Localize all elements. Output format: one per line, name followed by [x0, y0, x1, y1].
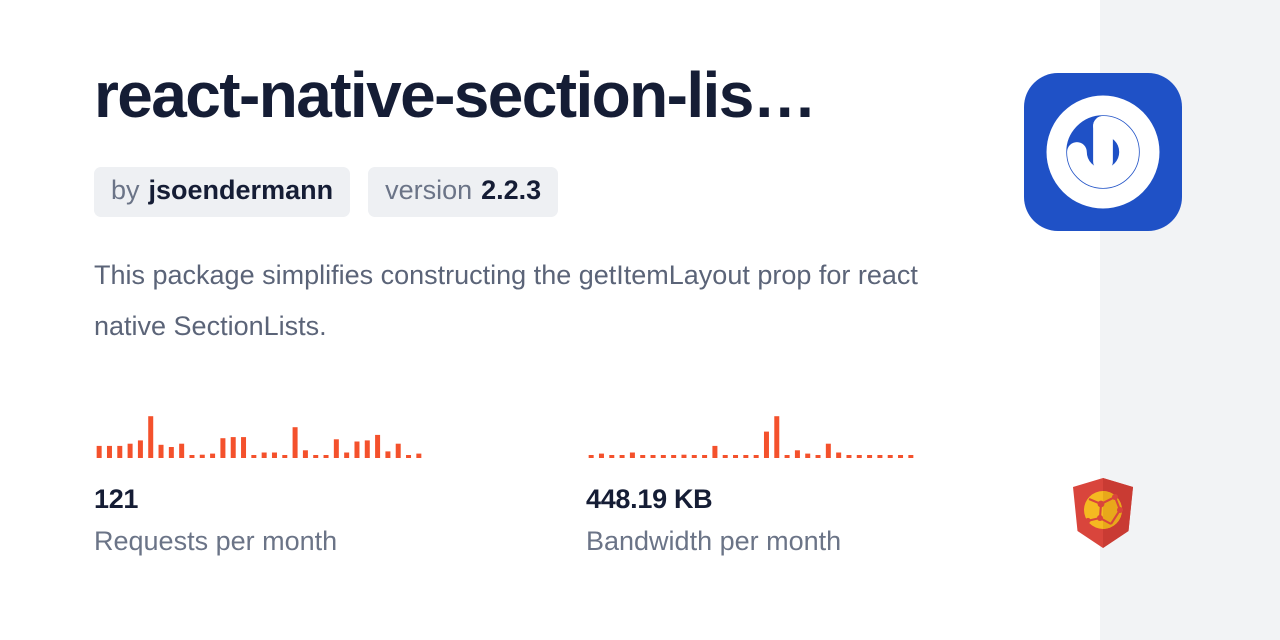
requests-value: 121	[94, 485, 424, 515]
sparkline-bar	[416, 454, 421, 458]
sparkline-bar	[640, 455, 645, 458]
sparkline-bar	[375, 435, 380, 458]
sparkline-bar	[733, 455, 738, 458]
sparkline-bar	[774, 416, 779, 458]
sparkline-bar	[324, 455, 329, 458]
sparkline-bar	[630, 453, 635, 459]
shield-globe-icon	[1070, 477, 1136, 549]
sparkline-bar	[702, 455, 707, 458]
sparkline-bar	[609, 455, 614, 458]
sparkline-bar	[743, 455, 748, 458]
sparkline-bar	[805, 454, 810, 458]
sparkline-bar	[293, 427, 298, 458]
version-number: 2.2.3	[481, 176, 541, 206]
package-description: This package simplifies constructing the…	[94, 250, 924, 352]
sparkline-bar	[661, 455, 666, 458]
requests-label: Requests per month	[94, 527, 424, 557]
sparkline-bar	[138, 440, 143, 458]
meta-badges: by jsoendermann version 2.2.3	[94, 167, 558, 217]
sparkline-bar	[620, 455, 625, 458]
version-prefix-label: version	[385, 176, 472, 206]
sparkline-bar	[599, 454, 604, 458]
bandwidth-sparkline-chart	[586, 410, 916, 458]
sparkline-bar	[867, 455, 872, 458]
sparkline-bar	[179, 444, 184, 458]
requests-sparkline-chart	[94, 410, 424, 458]
sparkline-bar	[220, 438, 225, 458]
sparkline-bar	[200, 455, 205, 458]
sparkline-bar	[846, 455, 851, 458]
sparkline-bar	[128, 444, 133, 458]
sparkline-bar	[354, 442, 359, 459]
sparkline-bar	[785, 455, 790, 458]
sparkline-bar	[406, 455, 411, 458]
sparkline-bar	[651, 455, 656, 458]
sparkline-bar	[826, 444, 831, 458]
sparkline-bar	[189, 455, 194, 458]
sparkline-bar	[169, 447, 174, 458]
sparkline-bar	[262, 453, 267, 459]
sparkline-bar	[908, 455, 913, 458]
sparkline-bar	[241, 437, 246, 458]
sparkline-bar	[148, 416, 153, 458]
sparkline-bar	[385, 451, 390, 458]
author-prefix-label: by	[111, 176, 140, 206]
bandwidth-value: 448.19 KB	[586, 485, 916, 515]
sparkline-bar	[681, 455, 686, 458]
sparkline-bar	[396, 444, 401, 458]
sparkline-bar	[589, 455, 594, 458]
sparkline-bar	[795, 450, 800, 458]
sparkline-bar	[107, 446, 112, 458]
sparkline-bar	[877, 455, 882, 458]
sparkline-bar	[712, 446, 717, 458]
sparkline-bar	[836, 453, 841, 459]
sparkline-bar	[303, 450, 308, 458]
sparkline-bar	[692, 455, 697, 458]
sparkline-bar	[344, 453, 349, 459]
stat-bandwidth: 448.19 KB Bandwidth per month	[586, 410, 916, 556]
sparkline-bar	[816, 455, 821, 458]
bandwidth-label: Bandwidth per month	[586, 527, 916, 557]
sparkline-bar	[159, 445, 164, 458]
sparkline-bar	[898, 455, 903, 458]
sparkline-bar	[272, 453, 277, 459]
version-badge[interactable]: version 2.2.3	[368, 167, 558, 217]
jsdelivr-logo-icon	[1024, 73, 1182, 231]
sparkline-bar	[231, 437, 236, 458]
sparkline-bar	[334, 439, 339, 458]
sparkline-bar	[764, 432, 769, 458]
sparkline-bar	[365, 440, 370, 458]
sparkline-bar	[888, 455, 893, 458]
sparkline-bar	[313, 455, 318, 458]
sparkline-bar	[754, 455, 759, 458]
sparkline-bar	[671, 455, 676, 458]
sparkline-bar	[97, 446, 102, 458]
page-title: react-native-section-lis…	[94, 62, 924, 129]
author-name: jsoendermann	[149, 176, 334, 206]
sparkline-bar	[723, 455, 728, 458]
author-badge[interactable]: by jsoendermann	[94, 167, 350, 217]
sparkline-bar	[857, 455, 862, 458]
sparkline-bar	[251, 455, 256, 458]
stat-requests: 121 Requests per month	[94, 410, 424, 556]
sparkline-bar	[282, 455, 287, 458]
sparkline-bar	[117, 446, 122, 458]
sparkline-bar	[210, 454, 215, 458]
package-card: react-native-section-lis… by jsoenderman…	[0, 0, 1280, 640]
